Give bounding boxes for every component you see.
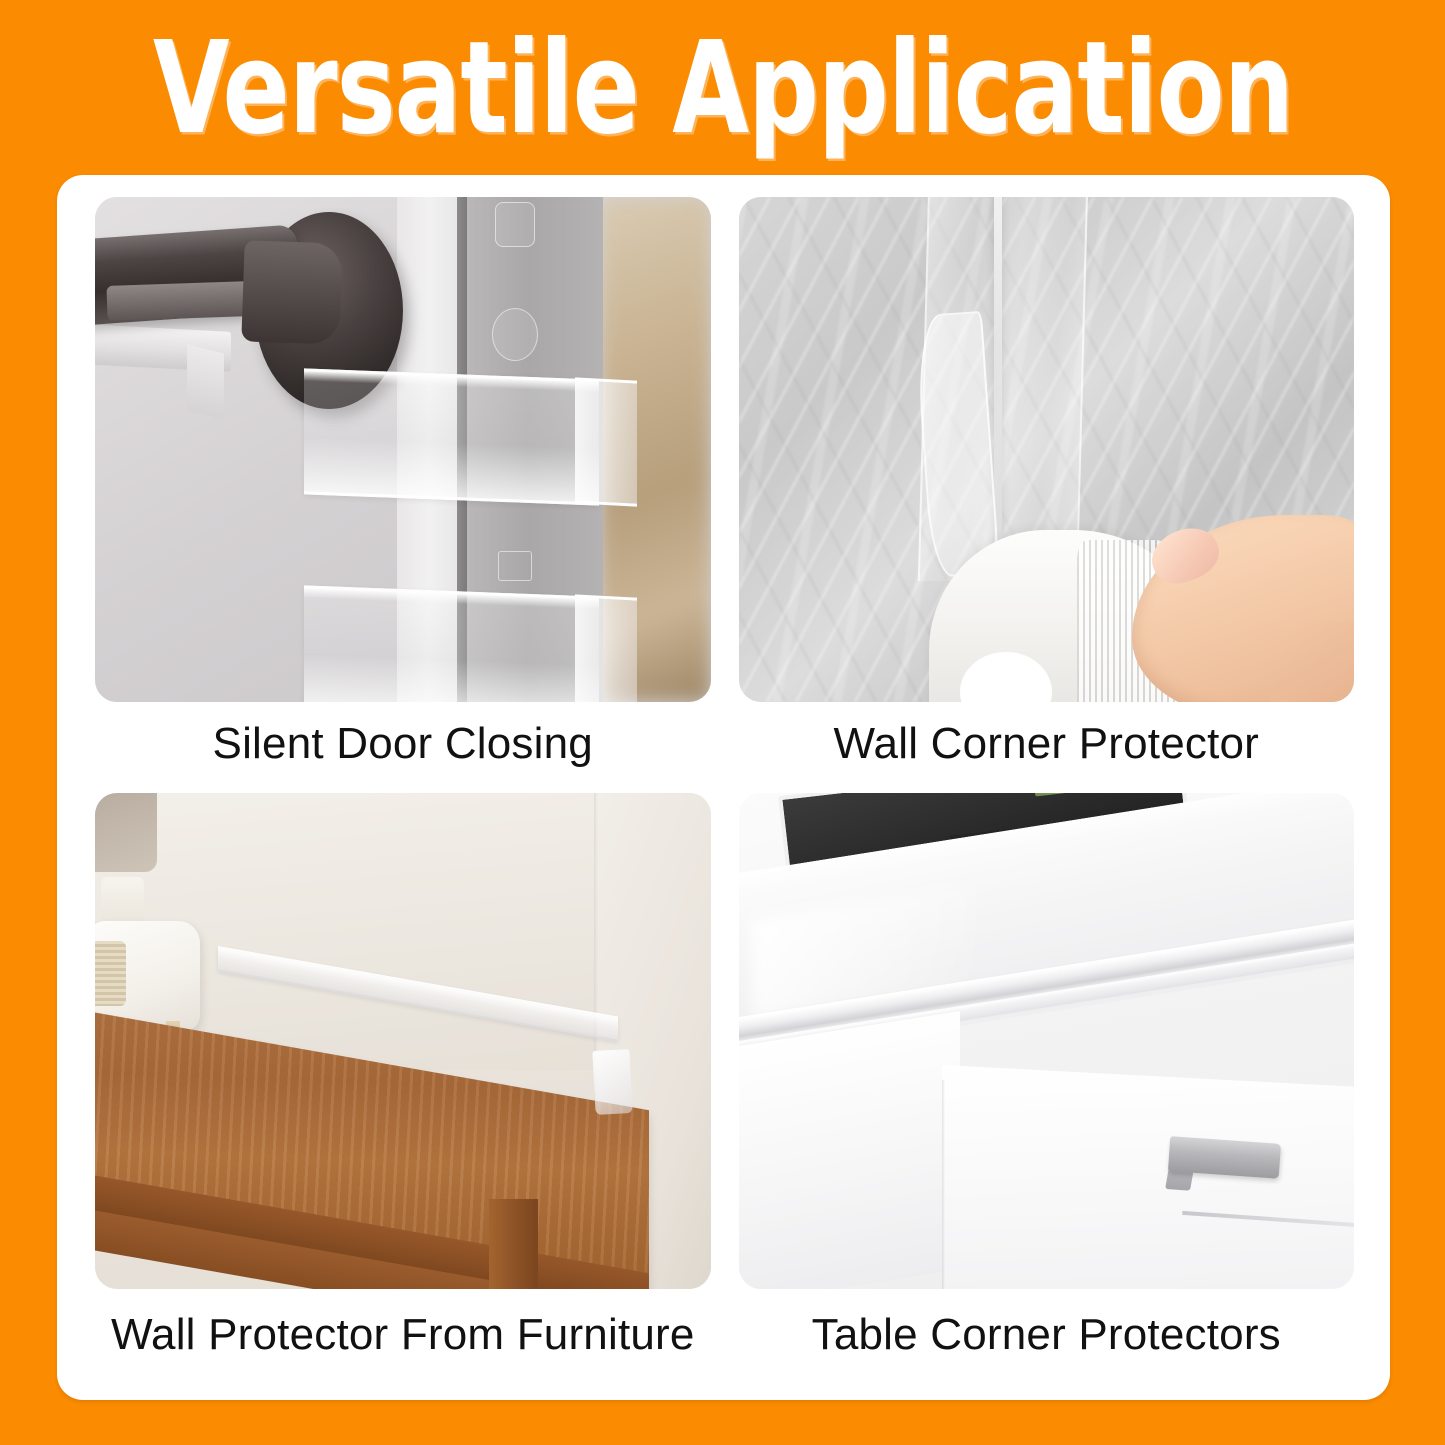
wall-corner-clear-tape-photo	[739, 197, 1355, 702]
door-detail-slot	[495, 202, 535, 247]
feature-card-table-corner-protectors: Table Corner Protectors	[739, 793, 1355, 1383]
page-title: Versatile Application	[152, 19, 1292, 154]
feature-card-wall-protector-from-furniture: Wall Protector From Furniture	[95, 793, 711, 1383]
header-banner: Versatile Application	[0, 0, 1445, 172]
feature-panel: Silent Door Closing Wall Corner Protecto…	[57, 175, 1390, 1400]
molding-tip	[187, 344, 224, 419]
feature-caption: Wall Protector From Furniture	[95, 1289, 711, 1383]
corner-bumper-strip-upper	[304, 368, 599, 506]
corner-bumper-wrap-lower	[575, 594, 637, 702]
wood-table-edge-guard-photo	[95, 793, 711, 1289]
door-with-corner-bumpers-photo	[95, 197, 711, 702]
table-leg	[489, 1199, 538, 1288]
corner-bumper-wrap-upper	[575, 377, 637, 506]
drawer-handle	[1168, 1136, 1281, 1178]
appliance-vent-grill	[95, 941, 126, 1005]
white-cabinet-edge-protector-photo	[739, 793, 1355, 1289]
feature-card-wall-corner-protector: Wall Corner Protector	[739, 197, 1355, 787]
door-lever-neck	[241, 241, 343, 345]
feature-caption: Silent Door Closing	[95, 702, 711, 787]
door-detail-square	[498, 551, 532, 581]
feature-card-silent-door-closing: Silent Door Closing	[95, 197, 711, 787]
feature-caption: Wall Corner Protector	[739, 702, 1355, 787]
cabinet-drawer-front	[942, 1065, 1354, 1288]
feature-grid: Silent Door Closing Wall Corner Protecto…	[57, 175, 1390, 1400]
cabinet-left-side	[739, 1011, 961, 1288]
upper-left-shadow	[95, 793, 157, 872]
edge-guard-end-cap	[592, 1049, 632, 1115]
door-detail-circle	[492, 308, 538, 361]
feature-caption: Table Corner Protectors	[739, 1289, 1355, 1383]
corner-bumper-strip-lower	[304, 585, 599, 702]
cabinet-corner-seam	[942, 1080, 946, 1288]
